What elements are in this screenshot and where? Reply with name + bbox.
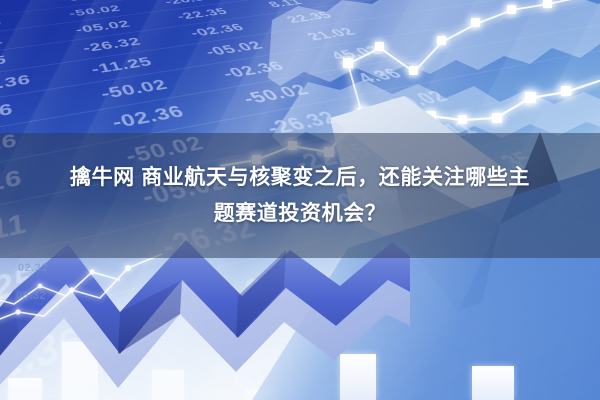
mini-ticker-label: 02.32 (18, 262, 48, 274)
headline-line-1: 擒牛网 商业航天与核聚变之后，还能关注哪些主 (70, 161, 530, 195)
banner-image: -04.05-22.36-11.25-05.0221.02-1.252.36-5… (0, 0, 600, 400)
mini-ticker-label: 05.32 (16, 290, 46, 302)
headline-line-2: 题赛道投资机会？ (214, 197, 387, 231)
headline-text: 擒牛网 商业航天与核聚变之后，还能关注哪些主 题赛道投资机会？ (0, 133, 600, 258)
bar-column (472, 366, 514, 400)
